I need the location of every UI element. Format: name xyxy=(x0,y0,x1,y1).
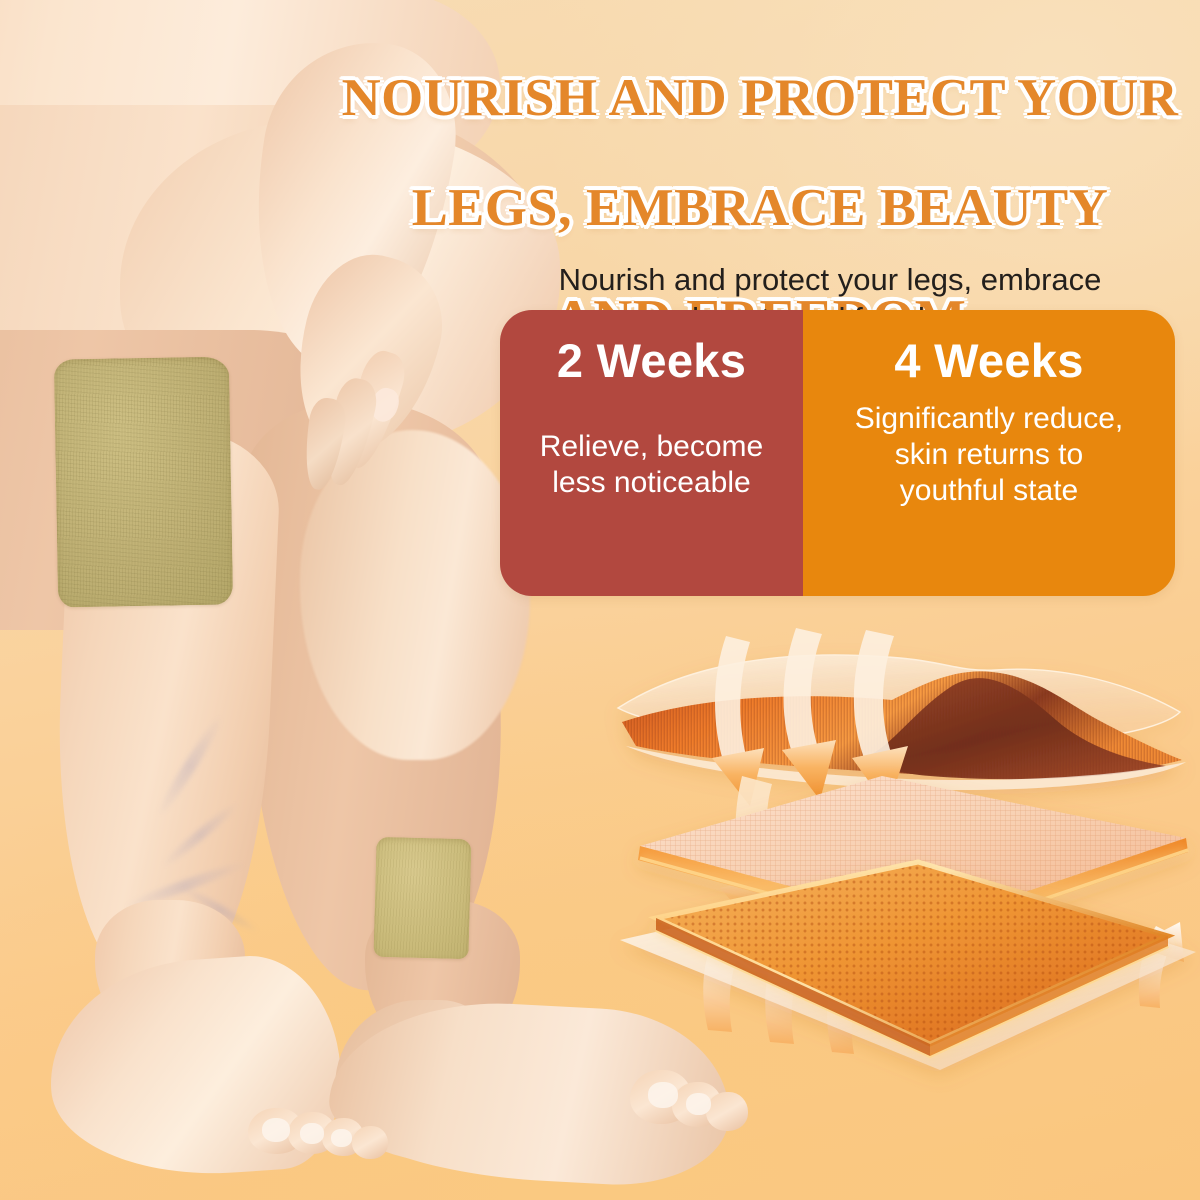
patch-on-calf xyxy=(54,356,233,607)
three-layer-patch-illustration xyxy=(600,600,1200,1200)
advertisement-canvas: NOURISH AND PROTECT YOUR LEGS, EMBRACE B… xyxy=(0,0,1200,1200)
skin-cross-section-layer xyxy=(618,655,1186,790)
four-weeks-description: Significantly reduce, skin returns to yo… xyxy=(855,401,1123,509)
four-weeks-title: 4 Weeks xyxy=(894,336,1083,385)
toenail xyxy=(331,1129,352,1147)
two-weeks-title: 2 Weeks xyxy=(557,336,746,385)
toenail xyxy=(262,1118,290,1142)
headline-line-1: NOURISH AND PROTECT YOUR xyxy=(321,71,1198,126)
two-weeks-column: 2 Weeks Relieve, become less noticeable xyxy=(500,310,803,596)
toe xyxy=(352,1126,388,1159)
timeline-results-panel: 2 Weeks Relieve, become less noticeable … xyxy=(500,310,1175,596)
patch-on-ankle xyxy=(373,837,471,959)
subtitle-line-1: Nourish and protect your legs, embrace xyxy=(559,262,1102,297)
two-weeks-description: Relieve, become less noticeable xyxy=(540,429,763,501)
four-weeks-column: 4 Weeks Significantly reduce, skin retur… xyxy=(803,310,1175,596)
herbal-patch-layer xyxy=(620,862,1196,1070)
toenail xyxy=(300,1123,324,1144)
